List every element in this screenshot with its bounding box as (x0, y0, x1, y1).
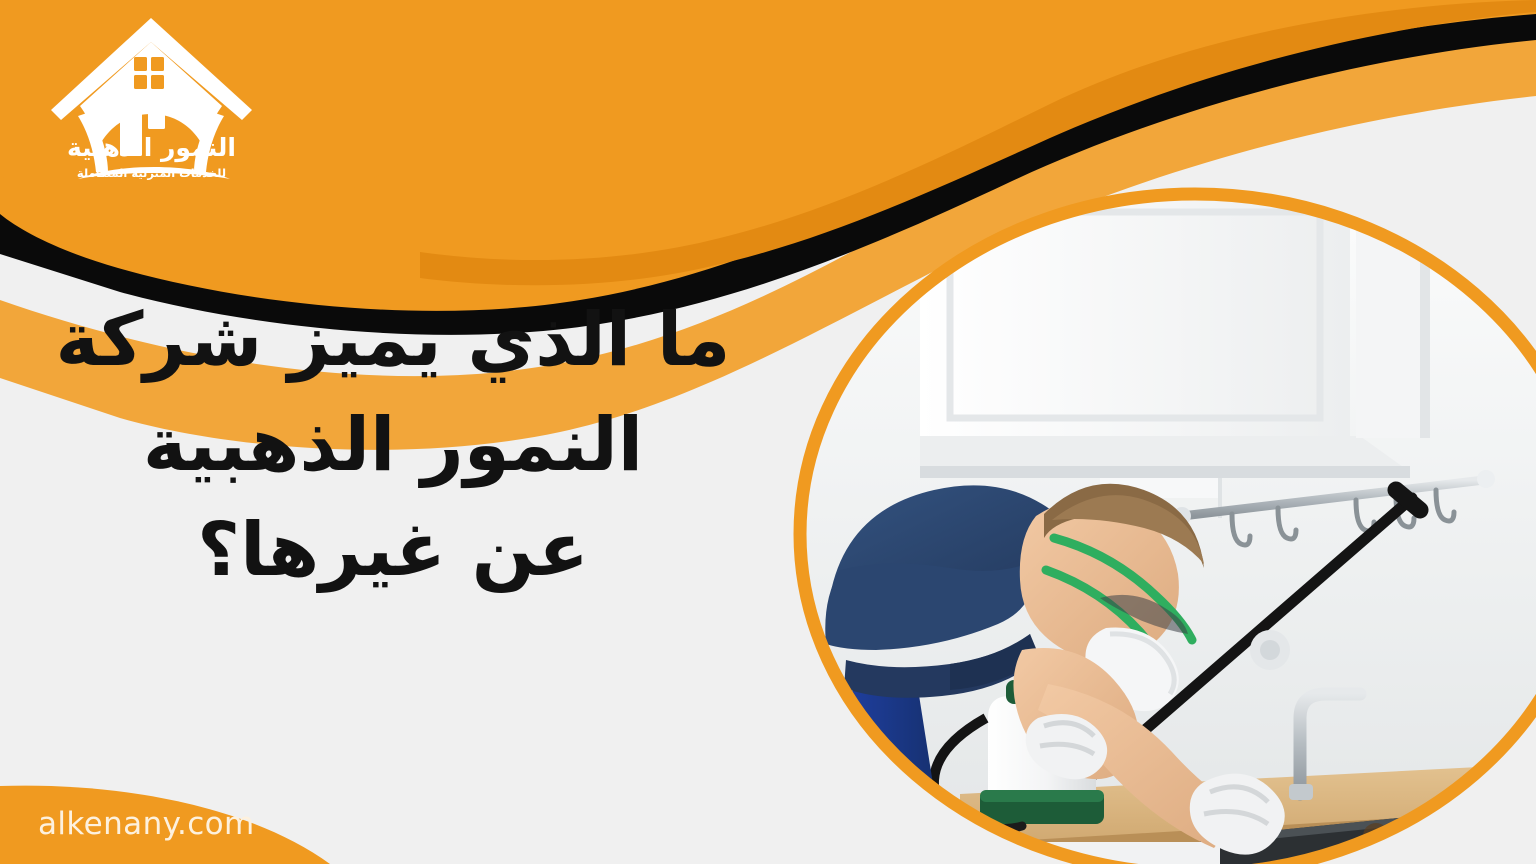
promo-banner: النمور الذهبية النمور الذهبية للخدمات ال… (0, 0, 1536, 864)
photo-cooktop-burner (1363, 823, 1389, 849)
photo-lower-cabinet (920, 842, 1220, 864)
page-title: ما الذي يميز شركة النمور الذهبية عن غيره… (18, 288, 768, 603)
logo-name-text: النمور الذهبية (44, 134, 259, 162)
logo-tagline-text: للخدمات المنزلية المتكاملة (44, 167, 259, 181)
headline-line-3: عن غيرها؟ (18, 498, 768, 603)
photo-cabinet (920, 198, 1350, 436)
headline-line-2: النمور الذهبية (18, 393, 768, 498)
hero-photo-illustration (800, 198, 1536, 864)
photo-cabinet-right (1356, 198, 1426, 438)
hero-photo-clip (800, 198, 1536, 864)
headline-line-1: ما الذي يميز شركة (18, 288, 768, 393)
photo-cabinet-shadow (920, 466, 1410, 478)
brand-logo: النمور الذهبية النمور الذهبية للخدمات ال… (44, 6, 259, 196)
photo-faucet-base (1289, 784, 1313, 800)
photo-rail-endcap-right (1477, 470, 1495, 488)
photo-cabinet-right-edge (1420, 198, 1430, 438)
hero-photo (800, 198, 1536, 864)
website-url[interactable]: alkenany.com (38, 806, 255, 842)
